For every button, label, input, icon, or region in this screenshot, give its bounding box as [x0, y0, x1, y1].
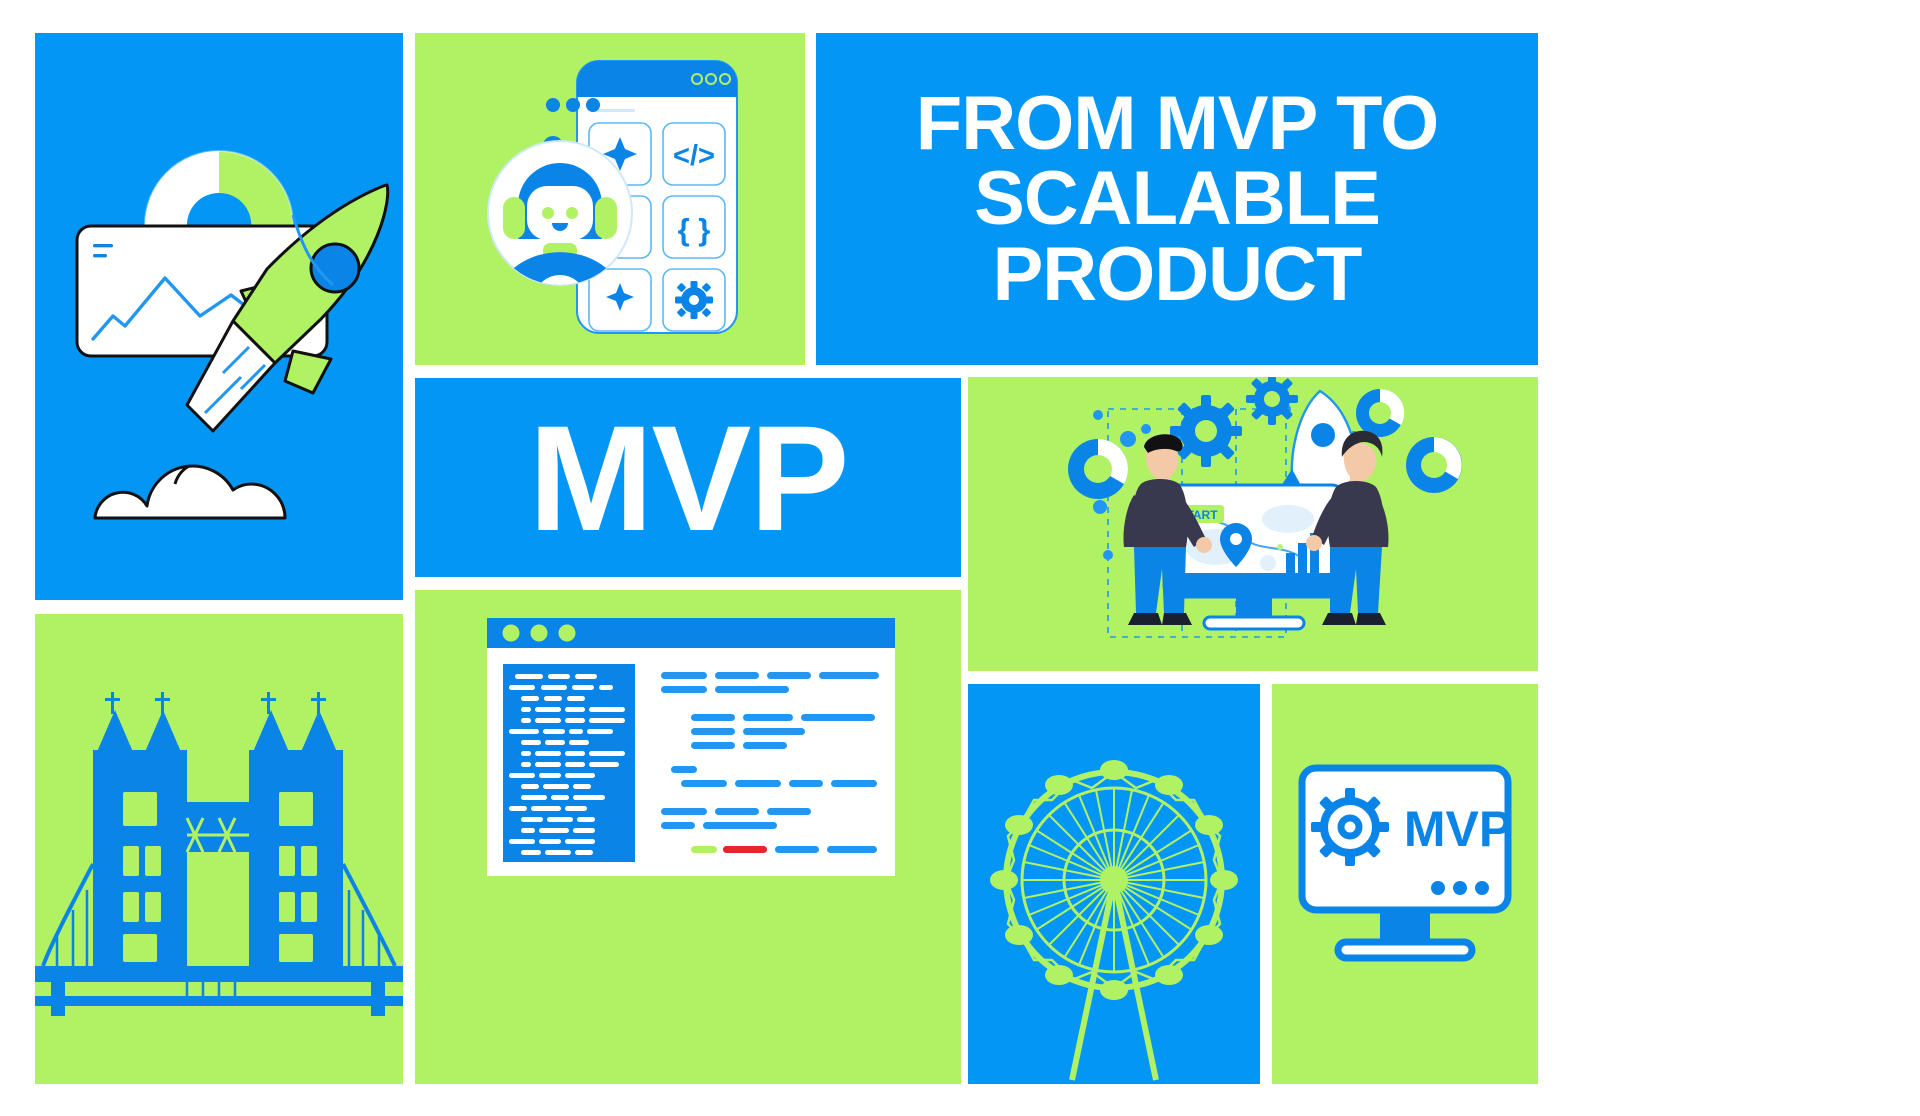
headline-panel: FROM MVP TO SCALABLE PRODUCT [816, 33, 1538, 365]
tower-bridge-icon [35, 614, 403, 1084]
headline-lines: FROM MVP TO SCALABLE PRODUCT [816, 86, 1538, 312]
rocket-dashboard-panel [35, 33, 403, 600]
headline-line-1: FROM MVP TO [916, 81, 1438, 166]
monitor-icon: START [1164, 485, 1344, 629]
headline-text-wrap: FROM MVP TO SCALABLE PRODUCT [816, 33, 1538, 365]
tower-bridge-panel [35, 614, 403, 1084]
braces-icon: { } [678, 212, 711, 247]
code-tag-icon: </> [673, 140, 715, 172]
mvp-wordmark-panel: MVP [415, 378, 961, 577]
collage-board: </> { } [0, 0, 1920, 1116]
mvp-monitor-illustration: MVP [1272, 684, 1538, 1084]
rocket-dashboard-illustration [35, 33, 403, 600]
headline-line-2: SCALABLE PRODUCT [974, 156, 1380, 316]
code-editor-illustration [415, 590, 961, 1084]
mvp-monitor-panel: MVP [1272, 684, 1538, 1084]
gear-icon-small [1246, 377, 1298, 425]
donut-chart-icon-right-top [1356, 389, 1404, 437]
status-dots [1431, 881, 1489, 895]
code-highlight-red [723, 846, 767, 853]
window-dots [503, 625, 576, 642]
cloud-icon [95, 466, 285, 518]
mvp-screen-label: MVP [1404, 801, 1512, 857]
gear-icon [675, 281, 713, 319]
code-highlight-green [691, 846, 717, 853]
mvp-wordmark-label: MVP [528, 403, 847, 553]
gear-icon-large [1170, 395, 1242, 467]
mvp-wordmark-wrap: MVP [415, 378, 961, 577]
donut-chart-icon-right-bottom [1406, 437, 1462, 493]
code-editor-panel [415, 590, 961, 1084]
team-launch-panel: START [968, 377, 1538, 671]
ferris-wheel-icon [968, 684, 1260, 1084]
team-launch-illustration: START [968, 377, 1538, 671]
monitor-icon: MVP [1302, 768, 1512, 958]
code-window-titlebar [487, 618, 895, 648]
donut-chart-icon-left [1068, 439, 1128, 499]
chatbot-phone-illustration: </> { } [415, 33, 805, 365]
ferris-wheel-panel [968, 684, 1260, 1084]
chatbot-phone-panel: </> { } [415, 33, 805, 365]
